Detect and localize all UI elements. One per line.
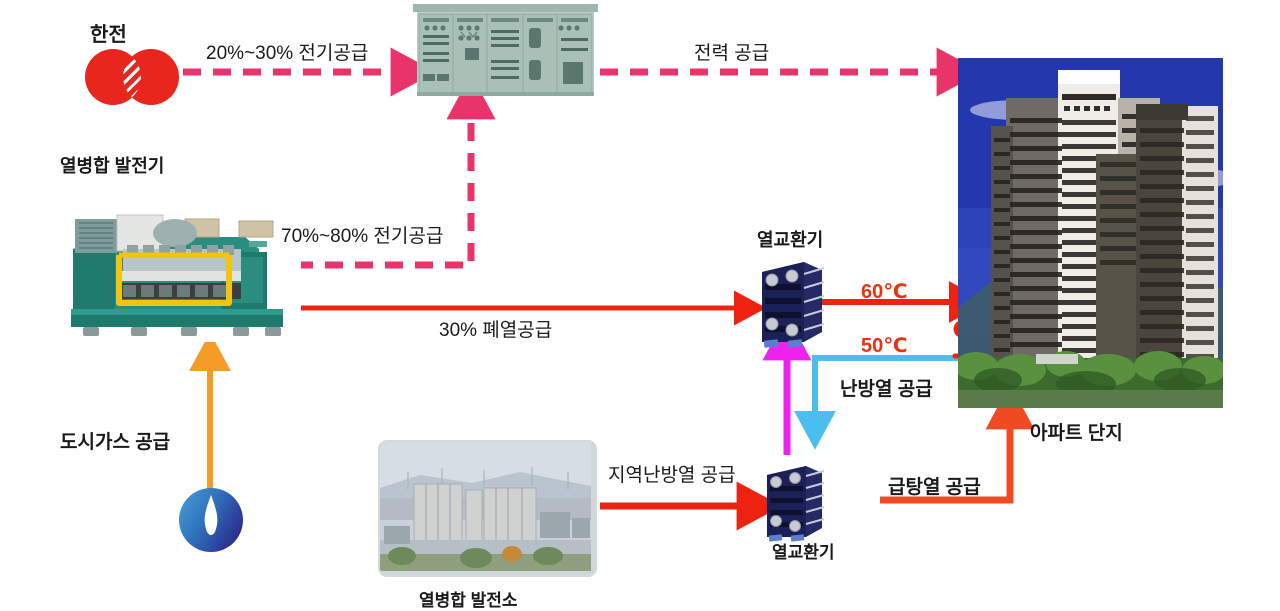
flow-label-power-supply: 전력 공급 <box>694 38 769 65</box>
cogeneration-plant-label: 열병합 발전소 <box>419 586 518 611</box>
flow-label-heating-supply: 난방열 공급 <box>840 374 933 401</box>
heat-exchanger-top-label: 열교환기 <box>757 226 823 252</box>
diagram-canvas: 한전 <box>0 0 1280 610</box>
supply-temperature-label: 60℃ <box>861 279 907 304</box>
kepco-logo <box>85 46 181 108</box>
city-gas-supply-label: 도시가스 공급 <box>60 427 170 454</box>
kepco-label: 한전 <box>90 18 127 47</box>
heat-exchanger-bottom-label: 열교환기 <box>772 538 835 563</box>
apartment-complex-photo <box>958 58 1223 408</box>
return-temperature-label: 50℃ <box>861 333 907 358</box>
apartment-complex-label: 아파트 단지 <box>1030 418 1123 445</box>
city-gas-logo <box>178 487 244 553</box>
kepco-logo-stripes <box>85 49 179 105</box>
plate-heat-exchanger-bottom-photo <box>758 462 828 544</box>
flow-label-district-heat: 지역난방열 공급 <box>608 460 736 487</box>
flow-label-hot-water-supply: 급탕열 공급 <box>888 472 981 499</box>
flow-label-kepco-electricity: 20%~30% 전기공급 <box>206 38 368 65</box>
flow-label-generator-electricity: 70%~80% 전기공급 <box>281 221 443 248</box>
cogeneration-engine-photo <box>53 197 301 342</box>
cogeneration-plant-photo <box>378 440 597 577</box>
switchgear-panel-photo <box>413 4 598 100</box>
flow-label-waste-heat: 30% 폐열공급 <box>439 315 552 342</box>
cogeneration-generator-label: 열병합 발전기 <box>60 152 164 178</box>
plate-heat-exchanger-top-photo <box>752 258 828 350</box>
